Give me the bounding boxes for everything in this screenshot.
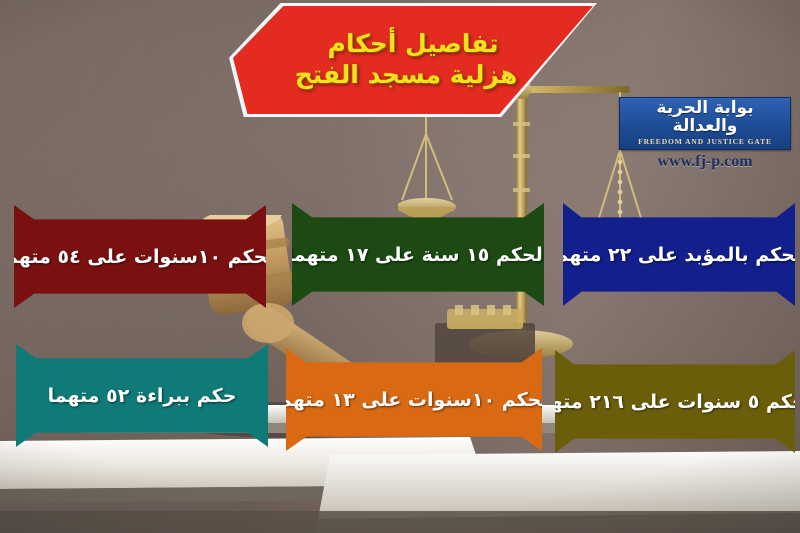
infographic-canvas: تفاصيل أحكام هزلية مسجد الفتح بوابة الحر… — [0, 0, 800, 533]
verdict-ribbon-group: الحكم ١٠سنوات على ٥٤ متهما الحكم ١٥ سنة … — [0, 0, 800, 533]
verdict-ribbon-1: الحكم ١٠سنوات على ٥٤ متهما — [14, 205, 266, 308]
verdict-label-3: الحكم بالمؤبد على ٢٢ متهما — [539, 244, 800, 266]
verdict-ribbon-2: الحكم ١٥ سنة على ١٧ متهما — [292, 203, 544, 306]
verdict-ribbon-6: الحكم ٥ سنوات على ٢١٦ متهما — [555, 350, 795, 453]
verdict-ribbon-5: الحكم ١٠سنوات على ١٣ متهما — [286, 348, 542, 451]
verdict-label-2: الحكم ١٥ سنة على ١٧ متهما — [277, 244, 560, 266]
verdict-label-4: حكم ببراءة ٥٢ متهما — [38, 385, 247, 407]
verdict-ribbon-3: الحكم بالمؤبد على ٢٢ متهما — [563, 203, 795, 306]
verdict-label-5: الحكم ١٠سنوات على ١٣ متهما — [263, 389, 565, 411]
verdict-label-6: الحكم ٥ سنوات على ٢١٦ متهما — [521, 391, 800, 413]
verdict-ribbon-4: حكم ببراءة ٥٢ متهما — [16, 344, 268, 447]
verdict-label-1: الحكم ١٠سنوات على ٥٤ متهما — [0, 246, 291, 268]
